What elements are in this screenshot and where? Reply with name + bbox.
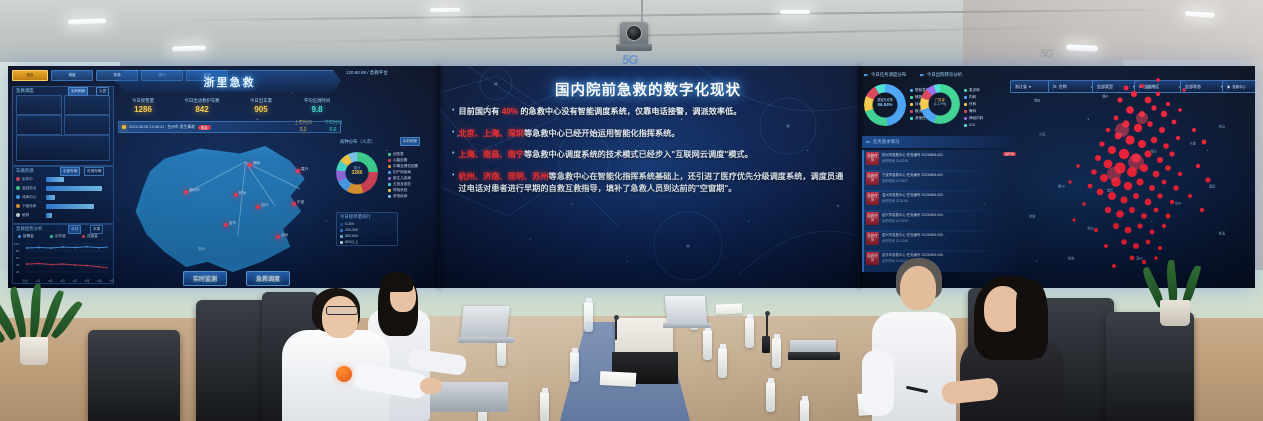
bar-dot-icon bbox=[16, 195, 20, 199]
legend-label: 送医量 bbox=[87, 234, 98, 239]
legend-label: 五官及皮肤 bbox=[393, 182, 411, 187]
rank-legend-item: 500-800 bbox=[340, 234, 358, 238]
x-tick: 今日 bbox=[22, 279, 28, 283]
water-bottle bbox=[800, 400, 809, 421]
diagnosis-header: 今日出院转诊分析 bbox=[920, 72, 962, 78]
task-title: 金华市急救中心 任务编号 20230605-006 bbox=[882, 252, 1016, 257]
alert-time: 2023-06-05 13:48:41 bbox=[129, 125, 164, 129]
laptop-screen bbox=[460, 306, 509, 338]
task-subtitle: 出车时间 13:38:07 bbox=[882, 178, 1016, 183]
water-bottle bbox=[745, 318, 754, 348]
legend-label: 中毒及理化因素 bbox=[393, 164, 418, 169]
x-tick: 2月 bbox=[48, 279, 53, 283]
legend-swatch bbox=[388, 171, 391, 174]
legend-label: 800以上 bbox=[345, 240, 358, 245]
legend-swatch bbox=[910, 89, 913, 92]
donut-legend-item: 五官及皮肤 bbox=[388, 182, 411, 187]
legend-label: 其他疾病 bbox=[393, 194, 407, 199]
vehicle-bar-row: 下级待命 bbox=[16, 203, 108, 209]
plant-pot bbox=[1160, 300, 1190, 326]
bullet-text: 北京、上海、深圳等急救中心已经开始运用智能化指挥系统。 bbox=[458, 128, 679, 141]
donut-center-value: (1.17%) bbox=[923, 102, 957, 106]
map-city-marker[interactable]: 宁波 bbox=[292, 202, 296, 206]
legend-label: 外科 bbox=[969, 102, 976, 107]
diagnosis-legend-item: 内科 bbox=[964, 95, 976, 100]
bar-track bbox=[46, 177, 64, 182]
alert-ticker[interactable]: 2023-06-05 13:48:41 台州市 发生事故 紧急 bbox=[118, 121, 341, 133]
bullet-item: • 目前国内有 40% 的急救中心没有智能调度系统，仅靠电话接警，调派效率低。 bbox=[452, 106, 848, 119]
trend-line-chart: 1008060 4020 bbox=[13, 240, 111, 280]
water-bottle bbox=[703, 330, 712, 360]
svg-text:40: 40 bbox=[16, 263, 20, 267]
vehicle-bar-row: 返回站点 bbox=[16, 185, 108, 191]
head bbox=[322, 296, 358, 338]
legend-swatch bbox=[388, 177, 391, 180]
map-city-marker[interactable]: 台州 bbox=[276, 235, 280, 239]
left-dashboard-title: 浙里急救 bbox=[116, 70, 343, 94]
map-city-dot-icon bbox=[224, 223, 228, 227]
map-city-dot-icon bbox=[296, 169, 300, 173]
map-city-label: 湖州市 bbox=[189, 188, 200, 193]
laptop-screen bbox=[790, 340, 836, 352]
head bbox=[900, 266, 936, 310]
legend-swatch bbox=[910, 103, 913, 106]
legend-swatch bbox=[964, 89, 967, 92]
task-list-header: 任务基本情况 bbox=[862, 136, 1016, 148]
scatter-points bbox=[1008, 70, 1251, 284]
disposal-header: 今日任务调度分布 bbox=[864, 72, 906, 78]
legend-swatch bbox=[388, 159, 391, 162]
dispatch-card bbox=[16, 95, 62, 115]
legend-swatch bbox=[388, 153, 391, 156]
alert-badge: 紧急 bbox=[198, 125, 211, 130]
legend-swatch bbox=[910, 117, 913, 120]
bullet-text: 杭州、济南、昆明、苏州等急救中心在智能化指挥系统基础上，还引进了医疗优先分级调度… bbox=[458, 171, 848, 196]
map-city-marker[interactable]: 绍兴 bbox=[256, 205, 260, 209]
alert-dot-icon bbox=[122, 125, 126, 129]
task-row[interactable]: 急救任务 宁波市急救中心 任务编号 20230605-002 出车时间 13:3… bbox=[862, 170, 1018, 192]
task-list-header-label: 任务基本情况 bbox=[866, 139, 899, 145]
map-city-dot-icon bbox=[248, 163, 252, 167]
x-tick: 3月 bbox=[60, 279, 65, 283]
bar-track bbox=[46, 195, 55, 200]
task-text: 温州市急救中心 任务编号 20230605-003 出车时间 13:31:54 bbox=[882, 192, 1016, 210]
vehicle-available-button[interactable]: 可用车辆 bbox=[84, 167, 104, 176]
dispatch-card bbox=[64, 115, 110, 135]
task-text: 嘉兴市急救中心 任务编号 20230605-005 出车时间 13:12:48 bbox=[882, 232, 1016, 250]
bar-track bbox=[46, 186, 102, 191]
x-tick: 1月 bbox=[36, 279, 41, 283]
bar-label: 出车中 bbox=[22, 177, 44, 182]
dispatch-card bbox=[64, 95, 110, 115]
water-bottle bbox=[584, 302, 593, 332]
legend-swatch bbox=[964, 96, 967, 99]
task-text: 宁波市急救中心 任务编号 20230605-002 出车时间 13:38:07 bbox=[882, 172, 1016, 190]
bullet-dot-icon: • bbox=[452, 106, 454, 116]
map-city-label: 台州 bbox=[281, 233, 288, 238]
bar-label: 待命中心 bbox=[22, 195, 44, 200]
bar-track bbox=[46, 213, 52, 218]
task-icon: 急救任务 bbox=[866, 152, 879, 165]
ceiling-light bbox=[780, 10, 810, 14]
realtime-monitor-button[interactable]: 实时监测 bbox=[183, 271, 227, 286]
rank-header: 今日接单量排行 bbox=[338, 213, 373, 221]
map-city-dot-icon bbox=[256, 205, 260, 209]
center-presentation-panel[interactable]: 国内院前急救的数字化现状 • 目前国内有 40% 的急救中心没有智能调度系统，仅… bbox=[438, 66, 858, 288]
legend-swatch bbox=[964, 124, 967, 127]
arm bbox=[862, 350, 894, 416]
left-dashboard-logo: 120.60.88 / 急救平台 bbox=[346, 70, 388, 76]
kpi-value: 9.8 bbox=[290, 105, 344, 114]
vehicle-resource-header: 车辆资源 bbox=[14, 167, 36, 175]
slide-title: 国内院前急救的数字化现状 bbox=[438, 79, 858, 100]
dispatch-section-header: 急救调度 bbox=[14, 87, 36, 95]
map-city-label: 湖州 bbox=[253, 161, 260, 166]
task-row[interactable]: 急救任务 金华市急救中心 任务编号 20230605-006 出车时间 13:0… bbox=[862, 250, 1018, 272]
legend-label: 新生儿疾病 bbox=[393, 176, 411, 181]
diagnosis-legend-item: 神经内科 bbox=[964, 116, 983, 121]
map-landmass bbox=[132, 146, 312, 272]
kpi-label: 今日出动救护车数 bbox=[174, 98, 230, 104]
svg-text:80: 80 bbox=[16, 249, 20, 253]
task-icon: 急救任务 bbox=[866, 252, 879, 265]
legend-label: 0-200 bbox=[345, 222, 354, 226]
dispatch-button[interactable]: 急救调度 bbox=[246, 271, 290, 286]
map-city-label: 丽水 bbox=[198, 247, 205, 252]
trend-today-button[interactable]: 今日 bbox=[68, 225, 81, 234]
x-tick: 7月 bbox=[109, 279, 114, 283]
glasses-icon bbox=[326, 306, 358, 315]
task-subtitle: 出车时间 13:42:15 bbox=[882, 158, 1000, 163]
trend-week-button[interactable]: 本周 bbox=[90, 225, 103, 234]
map-city-dot-icon bbox=[276, 235, 280, 239]
x-tick: 5月 bbox=[85, 279, 90, 283]
bar-label: 下级待命 bbox=[22, 204, 44, 209]
bar-dot-icon bbox=[16, 177, 20, 181]
hair-front bbox=[381, 272, 413, 292]
legend-swatch bbox=[964, 103, 967, 106]
task-title: 温州市急救中心 任务编号 20230605-003 bbox=[882, 192, 1016, 197]
left-dashboard-panel[interactable]: 首页 调度 资源 统计 管理 浙里急救 120.60.88 / 急救平台 急救调… bbox=[8, 66, 438, 288]
camera-lens-icon bbox=[626, 25, 642, 41]
legend-label: 心脑血管 bbox=[393, 158, 407, 163]
laptop-base bbox=[663, 323, 711, 328]
diagnosis-legend-item: 外科 bbox=[964, 102, 976, 107]
svg-text:100: 100 bbox=[14, 242, 19, 246]
legend-swatch bbox=[340, 223, 343, 226]
task-title: 杭州市急救中心 任务编号 20230605-001 bbox=[882, 152, 1000, 157]
svg-text:20: 20 bbox=[16, 270, 20, 274]
alert-text: 台州市 发生事故 bbox=[167, 125, 195, 130]
water-bottle bbox=[766, 382, 775, 412]
right-dashboard-panel[interactable]: 今日任务调度分布 今日出院转诊分析 调度完成率 86.84% 院前急救 转院转运… bbox=[858, 66, 1255, 288]
bullet-item: • 上海、南昌、南宁等急救中心调度系统的技术模式已经步入"互联网云调度"模式。 bbox=[452, 149, 848, 162]
legend-label: 骨科 bbox=[969, 109, 976, 114]
rank-legend-item: 200-500 bbox=[340, 228, 358, 232]
bullet-text: 上海、南昌、南宁等急救中心调度系统的技术模式已经步入"互联网云调度"模式。 bbox=[458, 149, 752, 162]
task-text: 杭州市急救中心 任务编号 20230605-001 出车时间 13:42:15 bbox=[882, 152, 1000, 170]
task-title: 宁波市急救中心 任务编号 20230605-002 bbox=[882, 172, 1016, 177]
legend-label: 500-800 bbox=[345, 234, 358, 238]
legend-swatch bbox=[388, 165, 391, 168]
task-subtitle: 出车时间 13:12:48 bbox=[882, 238, 1016, 243]
water-bottle bbox=[570, 352, 579, 382]
legend-swatch bbox=[388, 183, 391, 186]
donut-center: 总计 3286 bbox=[340, 165, 374, 176]
legend-swatch bbox=[910, 110, 913, 113]
task-title: 绍兴市急救中心 任务编号 20230605-004 bbox=[882, 212, 1016, 217]
task-row[interactable]: 急救任务 嘉兴市急救中心 任务编号 20230605-005 出车时间 13:1… bbox=[862, 230, 1018, 252]
bullet-text: 目前国内有 40% 的急救中心没有智能调度系统，仅靠电话接警，调派效率低。 bbox=[458, 106, 741, 119]
svg-text:60: 60 bbox=[16, 256, 20, 260]
office-chair bbox=[1106, 312, 1194, 421]
bar-track bbox=[46, 204, 94, 209]
legend-swatch bbox=[82, 235, 85, 238]
donut-center-value: 86.84% bbox=[867, 102, 903, 107]
ceiling-light bbox=[430, 8, 460, 13]
five-g-logo-right: 5G bbox=[1040, 48, 1053, 60]
map-city-dot-icon bbox=[292, 202, 296, 206]
legend-label: 急诊科 bbox=[969, 88, 980, 93]
task-subtitle: 出车时间 13:20:33 bbox=[882, 218, 1016, 223]
resource-scatter-map[interactable]: 湖州 嘉兴 杭州 绍兴 宁波 舟山 金华 衢州 台州 丽水 温州 义乌 余姚 慈… bbox=[1008, 70, 1251, 284]
disposal-donut-center: 调度完成率 86.84% bbox=[867, 97, 903, 107]
map-city-label: 宁波 bbox=[297, 200, 304, 205]
bar-label: 维修 bbox=[22, 213, 44, 218]
map-city-label: 绍兴 bbox=[261, 203, 268, 208]
paper-documents bbox=[600, 371, 637, 387]
kpi-value: 842 bbox=[174, 105, 230, 114]
plant-pot bbox=[20, 337, 48, 365]
kpi-alarm-count: 今日接警量 1286 bbox=[120, 98, 166, 114]
bullet-item: • 杭州、济南、昆明、苏州等急救中心在智能化指挥系统基础上，还引进了医疗优先分级… bbox=[452, 171, 848, 196]
task-icon: 急救任务 bbox=[866, 172, 879, 185]
rank-legend-item: 0-200 bbox=[340, 222, 354, 226]
task-row[interactable]: 急救任务 温州市急救中心 任务编号 20230605-003 出车时间 13:3… bbox=[862, 190, 1018, 212]
disease-donut-header: 病种分布（人次） bbox=[338, 138, 377, 146]
trend-x-axis: 今日 1月 2月 3月 4月 5月 6月 7月 bbox=[22, 279, 114, 283]
rank-legend-item: 800以上 bbox=[340, 240, 358, 245]
legend-label: 200-500 bbox=[345, 228, 358, 232]
bullet-dot-icon: • bbox=[452, 128, 454, 138]
paper-documents bbox=[716, 303, 742, 314]
map-city-marker[interactable]: 湖州市 bbox=[184, 190, 188, 194]
x-tick: 4月 bbox=[72, 279, 77, 283]
trend-legend-item: 送医量 bbox=[82, 234, 98, 239]
water-bottle bbox=[718, 348, 727, 378]
bar-dot-icon bbox=[16, 213, 20, 217]
map-city-label: 嘉兴 bbox=[301, 167, 308, 172]
donut-legend-item: 中毒及理化因素 bbox=[388, 164, 418, 169]
vehicle-all-button[interactable]: 全部车辆 bbox=[60, 167, 80, 176]
laptop-base bbox=[788, 352, 840, 360]
diagnosis-legend-item: 急诊科 bbox=[964, 88, 980, 93]
tab-home[interactable]: 首页 bbox=[12, 70, 48, 81]
donut-legend-item: 呼吸系统 bbox=[388, 188, 407, 193]
map-city-marker[interactable]: 湖州 bbox=[248, 163, 252, 167]
legend-swatch bbox=[910, 96, 913, 99]
legend-label: 神经内科 bbox=[969, 116, 983, 121]
dispatch-table bbox=[16, 135, 110, 161]
legend-label: 呼吸系统 bbox=[393, 188, 407, 193]
five-g-logo: 5G bbox=[622, 52, 637, 67]
water-bottle bbox=[540, 392, 549, 421]
legend-label: 创伤类 bbox=[393, 152, 404, 157]
diagnosis-donut-center: 门诊量 (1.17%) bbox=[923, 97, 957, 106]
legend-label: 出车量 bbox=[55, 234, 66, 239]
bullet-dot-icon: • bbox=[452, 149, 454, 159]
conference-room-screenshot: 5G 5G 首页 调度 资源 统计 管理 浙里急救 120.60.88 / 急救… bbox=[0, 0, 1263, 421]
microphone bbox=[615, 318, 617, 340]
hand bbox=[420, 378, 442, 394]
kpi-avg-response-time: 平均应调时间 9.8 bbox=[290, 98, 344, 114]
map-city-dot-icon bbox=[184, 190, 188, 194]
map-city-label: 杭州 bbox=[239, 191, 246, 196]
tab-dispatch[interactable]: 调度 bbox=[51, 70, 93, 81]
bullet-item: • 北京、上海、深圳等急救中心已经开始运用智能化指挥系统。 bbox=[452, 128, 848, 141]
map-city-marker[interactable]: 杭州 bbox=[234, 193, 238, 197]
vehicle-bar-row: 维修 bbox=[16, 212, 108, 218]
kpi-ambulance-dispatched: 今日出动救护车数 842 bbox=[174, 98, 230, 114]
video-wall: 首页 调度 资源 统计 管理 浙里急救 120.60.88 / 急救平台 急救调… bbox=[8, 66, 1255, 288]
screen-divider bbox=[438, 66, 440, 288]
kpi-vehicle-trips: 今日出车量 905 bbox=[238, 98, 284, 114]
donut-legend-item: 心脑血管 bbox=[388, 158, 407, 163]
donut-legend-item: 其他疾病 bbox=[388, 194, 407, 199]
task-row[interactable]: 急救任务 绍兴市急救中心 任务编号 20230605-004 出车时间 13:2… bbox=[862, 210, 1018, 232]
camera-base bbox=[616, 44, 652, 51]
legend-swatch bbox=[50, 235, 53, 238]
bar-label: 返回站点 bbox=[22, 186, 44, 191]
phone-device bbox=[762, 336, 770, 353]
kpi-label: 今日出车量 bbox=[238, 98, 284, 104]
task-icon: 急救任务 bbox=[866, 212, 879, 225]
office-chair bbox=[88, 330, 180, 421]
task-icon: 急救任务 bbox=[866, 192, 879, 205]
bullet-dot-icon: • bbox=[452, 171, 454, 181]
map-city-marker[interactable]: 金华 bbox=[224, 223, 228, 227]
trend-legend-item: 出车量 bbox=[50, 234, 66, 239]
left-dashboard-title-text: 浙里急救 bbox=[204, 74, 256, 90]
laptop-screen bbox=[665, 296, 707, 324]
map-city-marker[interactable]: 嘉兴 bbox=[296, 169, 300, 173]
map-city-dot-icon bbox=[234, 193, 238, 197]
diagnosis-legend-item: 骨科 bbox=[964, 109, 976, 114]
donut-legend-item: 创伤类 bbox=[388, 152, 404, 157]
map-city-label: 金华 bbox=[229, 221, 236, 226]
task-subtitle: 出车时间 13:31:54 bbox=[882, 198, 1016, 203]
kpi-value: 905 bbox=[238, 105, 284, 114]
vehicle-bar-row: 出车中 bbox=[16, 176, 108, 182]
water-bottle bbox=[772, 338, 781, 368]
legend-swatch bbox=[18, 235, 21, 238]
legend-swatch bbox=[340, 241, 343, 244]
screen-divider bbox=[858, 66, 860, 288]
task-subtitle: 出车时间 13:04:02 bbox=[882, 258, 1016, 263]
task-text: 绍兴市急救中心 任务编号 20230605-004 出车时间 13:20:33 bbox=[882, 212, 1016, 230]
donut-legend-item: 妇产科疾病 bbox=[388, 170, 411, 175]
camera-mount-rod bbox=[641, 0, 643, 24]
legend-label: 内科 bbox=[969, 95, 976, 100]
disease-refresh-button[interactable]: 实时刷新 bbox=[400, 137, 420, 146]
slide-bullets: • 目前国内有 40% 的急救中心没有智能调度系统，仅靠电话接警，调派效率低。 … bbox=[452, 106, 848, 205]
legend-label: 妇产科疾病 bbox=[393, 170, 411, 175]
legend-swatch bbox=[340, 229, 343, 232]
legend-swatch bbox=[340, 235, 343, 238]
kpi-label: 今日接警量 bbox=[120, 98, 166, 104]
task-row[interactable]: 急救任务 杭州市急救中心 任务编号 20230605-001 出车时间 13:4… bbox=[862, 150, 1018, 172]
legend-swatch bbox=[964, 110, 967, 113]
legend-swatch bbox=[388, 189, 391, 192]
legend-swatch bbox=[388, 195, 391, 198]
kpi-label: 平均应调时间 bbox=[290, 98, 344, 104]
donut-center-value: 3286 bbox=[340, 170, 374, 176]
legend-swatch bbox=[964, 117, 967, 120]
diagnosis-legend-item: ICU bbox=[964, 123, 975, 127]
donut-legend-item: 新生儿疾病 bbox=[388, 176, 411, 181]
trend-header: 急救趋势分析 bbox=[14, 225, 44, 233]
dispatch-card bbox=[16, 115, 62, 135]
task-title: 嘉兴市急救中心 任务编号 20230605-005 bbox=[882, 232, 1016, 237]
office-chair bbox=[196, 300, 270, 421]
x-tick: 6月 bbox=[97, 279, 102, 283]
legend-label: 接警量 bbox=[23, 234, 34, 239]
task-icon: 急救任务 bbox=[866, 232, 879, 245]
vehicle-bar-row: 待命中心 bbox=[16, 194, 108, 200]
zhejiang-map[interactable]: 湖州 嘉兴 杭州 绍兴 宁波 湖州市 金 bbox=[126, 138, 326, 288]
trend-legend-item: 接警量 bbox=[18, 234, 34, 239]
kpi-value: 1286 bbox=[120, 105, 166, 114]
bar-dot-icon bbox=[16, 186, 20, 190]
hair-side bbox=[1016, 280, 1048, 358]
laptop-base bbox=[458, 337, 514, 343]
bar-dot-icon bbox=[16, 204, 20, 208]
orange-object bbox=[336, 366, 352, 382]
legend-label: ICU bbox=[969, 123, 975, 127]
